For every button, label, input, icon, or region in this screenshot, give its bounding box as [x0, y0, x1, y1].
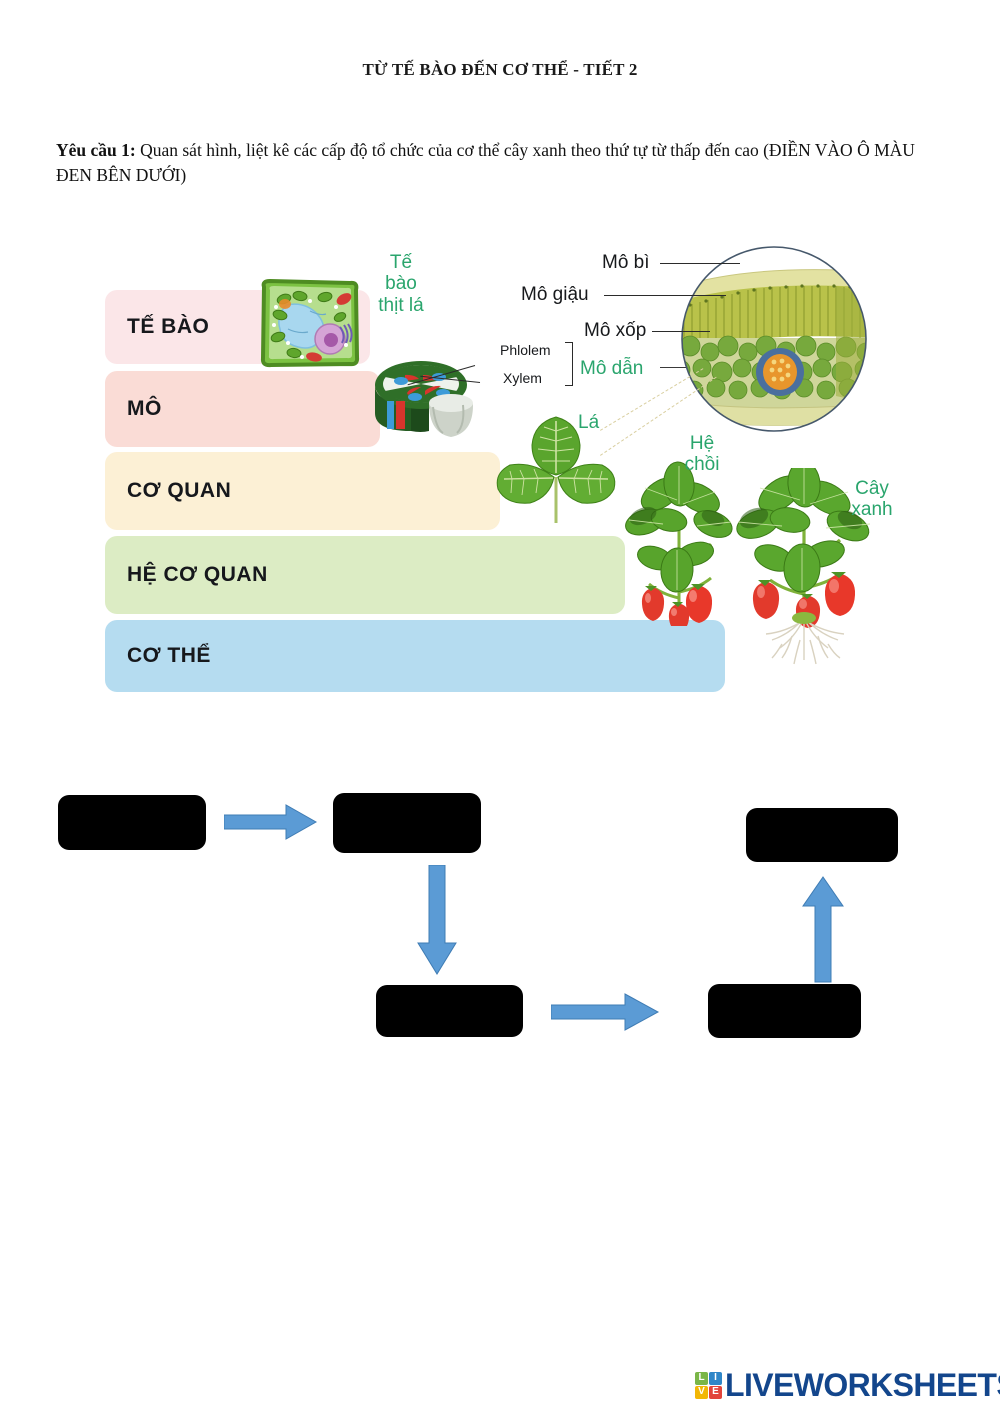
organization-levels-figure: TẾ BÀO MÔ CƠ QUAN HỆ CƠ QUAN CƠ THỂ: [0, 230, 1000, 700]
label-xylem: Xylem: [503, 370, 542, 386]
leader-line-mo-xop: [652, 331, 710, 332]
arrow-right-1: [224, 803, 319, 846]
liveworksheets-logo[interactable]: L I V E LIVEWORKSHEETS: [695, 1364, 1000, 1406]
leader-line-mo-bi: [660, 263, 740, 264]
instruction-text: Yêu cầu 1: Quan sát hình, liệt kê các cấ…: [56, 138, 942, 189]
label-cay-xanh: Cây xanh: [840, 478, 904, 521]
answer-box-3[interactable]: [376, 985, 523, 1037]
answer-flowchart: [0, 780, 1000, 1070]
instruction-lead: Yêu cầu 1:: [56, 140, 136, 160]
answer-box-2[interactable]: [333, 793, 481, 853]
label-phlolem: Phlolem: [500, 342, 551, 358]
strawberry-shoot-icon: [615, 458, 745, 626]
logo-tile-l: L: [695, 1372, 708, 1385]
answer-box-1[interactable]: [58, 795, 206, 850]
label-mo-xop: Mô xốp: [584, 320, 646, 341]
label-mo-giau: Mô giậu: [521, 284, 589, 305]
logo-tile-e: E: [709, 1386, 722, 1399]
level-bar-label: MÔ: [127, 397, 162, 421]
logo-wordmark: LIVEWORKSHEETS: [725, 1367, 1000, 1404]
level-bar-label: CƠ THỂ: [127, 644, 211, 668]
label-he-choi: Hệ chồi: [672, 433, 732, 476]
logo-tiles: L I V E: [695, 1372, 722, 1399]
instruction-body: Quan sát hình, liệt kê các cấp độ tổ chứ…: [56, 140, 915, 185]
label-mo-bi: Mô bì: [602, 252, 650, 273]
label-mo-dan: Mô dẫn: [580, 358, 658, 379]
level-bar-mo: MÔ: [105, 371, 380, 447]
arrow-right-2: [551, 992, 661, 1037]
label-te-bao-thit-la: Tế bào thịt lá: [370, 252, 432, 316]
bracket-mo-dan: [565, 342, 573, 386]
page-title: TỪ TẾ BÀO ĐẾN CƠ THỂ - TIẾT 2: [0, 60, 1000, 80]
leaf-cross-section-icon: [668, 246, 880, 436]
level-bar-he-co-quan: HỆ CƠ QUAN: [105, 536, 625, 614]
logo-tile-v: V: [695, 1386, 708, 1399]
plant-cell-icon: [258, 277, 362, 369]
arrow-up-1: [800, 876, 846, 989]
logo-tile-i: I: [709, 1372, 722, 1385]
answer-box-5[interactable]: [746, 808, 898, 862]
level-bar-label: TẾ BÀO: [127, 315, 209, 339]
arrow-down-1: [415, 865, 459, 982]
level-bar-label: CƠ QUAN: [127, 479, 231, 503]
answer-box-4[interactable]: [708, 984, 861, 1038]
level-bar-co-the: CƠ THỂ: [105, 620, 725, 692]
level-bar-label: HỆ CƠ QUAN: [127, 563, 268, 587]
leader-line-mo-giau: [604, 295, 726, 296]
level-bar-co-quan: CƠ QUAN: [105, 452, 500, 530]
